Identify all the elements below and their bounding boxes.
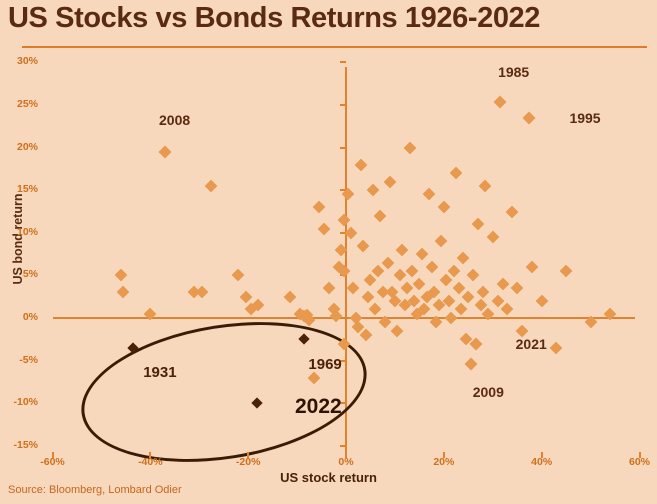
y-axis-tick-label: 15% [4, 183, 38, 195]
scatter-point [205, 180, 218, 193]
scatter-point [535, 295, 548, 308]
point-label-2022: 2022 [295, 395, 342, 419]
y-axis-tick-label: 10% [4, 226, 38, 238]
scatter-point [384, 175, 397, 188]
scatter-point [381, 256, 394, 269]
scatter-point [369, 303, 382, 316]
scatter-point [435, 235, 448, 248]
scatter-point [455, 303, 468, 316]
scatter-point-1995 [523, 111, 536, 124]
scatter-point [357, 239, 370, 252]
scatter-point [437, 201, 450, 214]
x-axis-tick-label: -40% [120, 456, 180, 468]
scatter-point [232, 269, 245, 282]
scatter-point [367, 184, 380, 197]
scatter-point [406, 265, 419, 278]
scatter-point [359, 329, 372, 342]
scatter-point [440, 273, 453, 286]
scatter-point [313, 201, 326, 214]
y-axis-tick [340, 104, 346, 106]
scatter-point [403, 141, 416, 154]
scatter-point [283, 290, 296, 303]
scatter-point [362, 290, 375, 303]
y-axis-tick-label: 25% [4, 98, 38, 110]
x-axis-tick-label: -20% [218, 456, 278, 468]
point-label-1985: 1985 [498, 64, 529, 80]
scatter-point [393, 269, 406, 282]
y-axis-tick-label: 0% [4, 311, 38, 323]
scatter-point-2008 [159, 145, 172, 158]
scatter-point [506, 205, 519, 218]
x-axis-tick-label: 0% [316, 456, 376, 468]
point-label-2021: 2021 [516, 336, 547, 352]
scatter-point-1985 [494, 95, 507, 108]
scatter-point [396, 243, 409, 256]
scatter-point [452, 282, 465, 295]
point-label-2008: 2008 [159, 112, 190, 128]
scatter-point [550, 341, 563, 354]
plot-area [0, 0, 657, 504]
x-axis-tick-label: 60% [610, 456, 657, 468]
y-axis-tick [340, 445, 346, 447]
y-axis-tick-label: 30% [4, 55, 38, 67]
scatter-point [457, 252, 470, 265]
scatter-point [479, 180, 492, 193]
scatter-point [425, 261, 438, 274]
scatter-point [447, 265, 460, 278]
point-label-1969: 1969 [308, 356, 341, 373]
point-label-1931: 1931 [143, 364, 176, 381]
scatter-point [413, 278, 426, 291]
chart-container: US Stocks vs Bonds Returns 1926-2022 US … [0, 0, 657, 504]
y-axis-tick-label: -15% [4, 439, 38, 451]
y-axis-tick-label: 5% [4, 268, 38, 280]
scatter-point [117, 286, 130, 299]
scatter-point-2009 [464, 358, 477, 371]
source-note: Source: Bloomberg, Lombard Odier [8, 484, 182, 496]
y-axis-tick-label: -5% [4, 354, 38, 366]
point-label-1995: 1995 [569, 110, 600, 126]
y-axis-tick-label: -10% [4, 396, 38, 408]
scatter-point [323, 282, 336, 295]
scatter-point [415, 248, 428, 261]
scatter-point [445, 312, 458, 325]
x-axis-tick-label: 20% [414, 456, 474, 468]
highlight-ellipse [71, 303, 376, 480]
scatter-point [354, 158, 367, 171]
scatter-point [477, 286, 490, 299]
scatter-point [486, 231, 499, 244]
scatter-point [318, 222, 331, 235]
scatter-point [337, 214, 350, 227]
scatter-point [371, 265, 384, 278]
scatter-point [462, 290, 475, 303]
scatter-point [526, 261, 539, 274]
scatter-point [374, 209, 387, 222]
scatter-point [560, 265, 573, 278]
scatter-point [511, 282, 524, 295]
y-axis-tick [340, 147, 346, 149]
x-axis-tick-label: 40% [512, 456, 572, 468]
scatter-point [491, 295, 504, 308]
x-axis-tick-label: -60% [23, 456, 83, 468]
scatter-point [115, 269, 128, 282]
scatter-point [450, 167, 463, 180]
scatter-point [467, 269, 480, 282]
point-label-2009: 2009 [473, 384, 504, 400]
scatter-point [501, 303, 514, 316]
scatter-point [496, 278, 509, 291]
scatter-point [342, 188, 355, 201]
scatter-point [239, 290, 252, 303]
scatter-point [347, 282, 360, 295]
scatter-point [472, 218, 485, 231]
y-axis-tick-label: 20% [4, 141, 38, 153]
scatter-point [391, 324, 404, 337]
scatter-point [423, 188, 436, 201]
y-axis-tick [340, 61, 346, 63]
